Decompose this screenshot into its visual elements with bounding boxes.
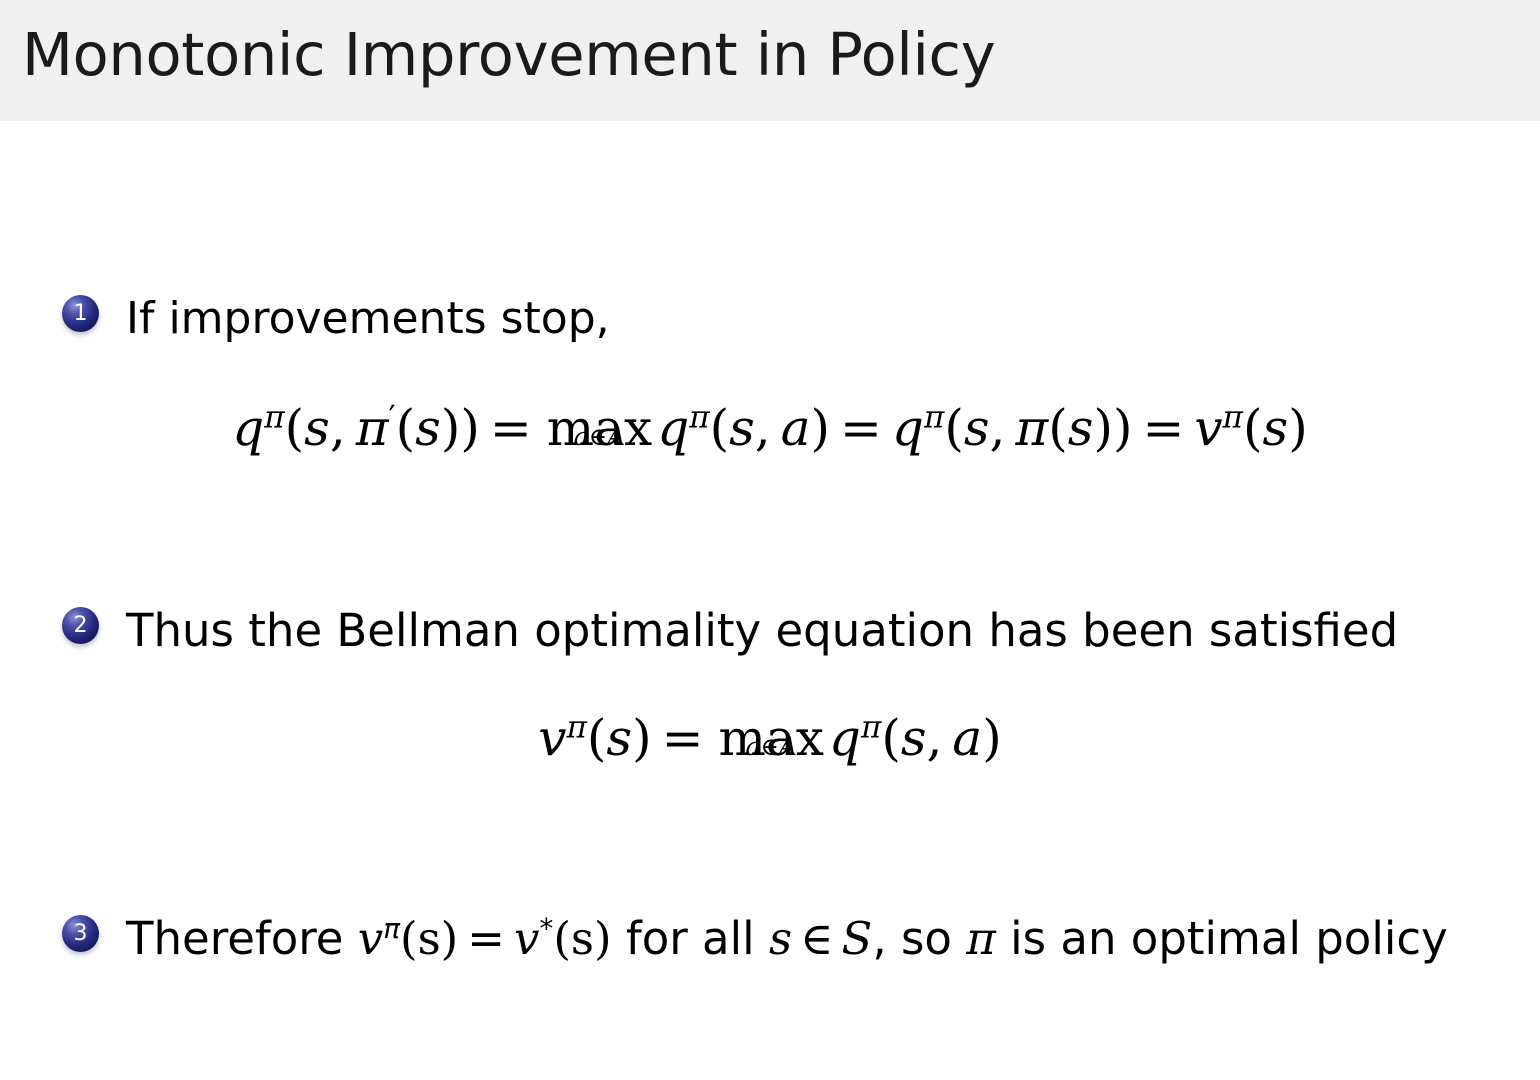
eq1-comma-2: ,: [755, 399, 771, 457]
eq2-limit-in: ∈: [760, 732, 779, 761]
list-item-1-text: If improvements stop,: [126, 295, 610, 343]
eq1-pi-sup-3: π: [924, 399, 944, 435]
enumerate-badge-2: 2: [62, 607, 99, 644]
enumerate-badge-3: 3: [62, 915, 99, 952]
eq1-lparen-3: (: [710, 399, 730, 457]
eq1-lparen-1: (: [285, 399, 305, 457]
item3-in-symbol: ∈: [800, 912, 833, 965]
eq2-rparen-2: ): [982, 709, 1002, 767]
eq1-q-2: q: [657, 399, 689, 457]
eq1-pi-1: π: [356, 399, 389, 457]
item3-tail: , so: [872, 912, 966, 965]
item3-end: is an optimal policy: [996, 912, 1448, 965]
eq1-lparen-5: (: [1048, 399, 1068, 457]
eq2-comma-1: ,: [927, 709, 943, 767]
eq2-lparen-1: (: [587, 709, 607, 767]
item3-s-arg-2: (s): [553, 912, 611, 965]
eq2-pi-sup-2: π: [861, 709, 881, 745]
list-item-2-text: Thus the Bellman optimality equation has…: [126, 607, 1398, 656]
eq1-s-1: s: [304, 399, 330, 457]
eq2-limit-cal-A: A: [779, 732, 797, 761]
eq1-lparen-4: (: [944, 399, 964, 457]
eq1-pi-2: π: [1015, 399, 1048, 457]
eq1-equals-3: =: [1143, 399, 1185, 457]
list-item-2: 2 Thus the Bellman optimality equation h…: [62, 607, 1398, 656]
eq1-equals-1: =: [490, 399, 532, 457]
list-item-3: 3 Therefore vπ(s)=v*(s) for all s∈S, so …: [62, 915, 1448, 964]
item3-pi-var: π: [966, 912, 996, 965]
list-item-1: 1 If improvements stop,: [62, 295, 610, 343]
eq1-rparen-4: ): [1093, 399, 1113, 457]
display-equation-1: qπ(s, π′(s))=maxa∈Aqπ(s, a)=qπ(s, π(s))=…: [0, 399, 1540, 457]
eq1-lparen-2: (: [396, 399, 416, 457]
eq2-equals-1: =: [662, 709, 704, 767]
eq2-v-1: v: [538, 709, 566, 767]
eq1-s-2: s: [415, 399, 441, 457]
eq2-limit-a: a: [745, 732, 760, 761]
eq1-q-3: q: [892, 399, 924, 457]
item3-v-pi: v: [358, 912, 383, 965]
item3-equals: =: [467, 912, 505, 965]
slide-header: Monotonic Improvement in Policy: [0, 0, 1540, 121]
item3-star-sup: *: [539, 912, 553, 945]
eq1-rparen-6: ): [1288, 399, 1308, 457]
eq1-pi-sup-2: π: [689, 399, 709, 435]
eq1-rparen-5: ): [1113, 399, 1133, 457]
eq1-rparen-3: ): [811, 399, 831, 457]
eq1-max-limits: a∈A: [574, 422, 625, 451]
eq1-limit-in: ∈: [589, 422, 608, 451]
eq2-s-1: s: [606, 709, 632, 767]
eq2-pi-sup-1: π: [567, 709, 587, 745]
eq1-s-4: s: [964, 399, 990, 457]
eq1-prime: ′: [389, 399, 396, 435]
page-title: Monotonic Improvement in Policy: [22, 25, 995, 84]
eq2-max-operator: maxa∈A: [719, 709, 824, 767]
eq2-q-1: q: [829, 709, 861, 767]
eq1-limit-a: a: [574, 422, 589, 451]
eq1-pi-sup-1: π: [264, 399, 284, 435]
eq1-rparen-2: ): [460, 399, 480, 457]
eq1-max-operator: maxa∈A: [547, 399, 652, 457]
eq2-lparen-2: (: [881, 709, 901, 767]
item3-mid: for all: [612, 912, 769, 965]
eq1-s-6: s: [1263, 399, 1289, 457]
item3-pi-sup: π: [383, 912, 400, 945]
item3-s-arg-1: (s): [400, 912, 458, 965]
eq1-pi-sup-4: π: [1223, 399, 1243, 435]
eq1-q-1: q: [232, 399, 264, 457]
eq1-lparen-6: (: [1243, 399, 1263, 457]
eq1-v-1: v: [1194, 399, 1222, 457]
eq1-s-3: s: [729, 399, 755, 457]
eq1-rparen-1: ): [441, 399, 461, 457]
eq1-equals-2: =: [840, 399, 882, 457]
eq2-a-1: a: [952, 709, 982, 767]
eq2-rparen-1: ): [632, 709, 652, 767]
eq1-limit-cal-A: A: [607, 422, 625, 451]
eq1-a-1: a: [781, 399, 811, 457]
list-item-3-text: Therefore vπ(s)=v*(s) for all s∈S, so π …: [126, 915, 1448, 964]
eq1-comma-3: ,: [990, 399, 1006, 457]
eq1-comma-1: ,: [330, 399, 346, 457]
slide-body: 1 If improvements stop, qπ(s, π′(s))=max…: [0, 121, 1540, 1080]
display-equation-2: vπ(s)=maxa∈Aqπ(s, a): [0, 709, 1540, 767]
item3-s-var: s: [769, 912, 792, 965]
item3-lead: Therefore: [126, 912, 358, 965]
eq1-s-5: s: [1068, 399, 1094, 457]
item3-v-star: v: [514, 912, 539, 965]
item3-cal-S: S: [842, 912, 873, 965]
eq2-s-2: s: [901, 709, 927, 767]
eq2-max-limits: a∈A: [745, 732, 796, 761]
enumerate-badge-1: 1: [62, 295, 99, 332]
